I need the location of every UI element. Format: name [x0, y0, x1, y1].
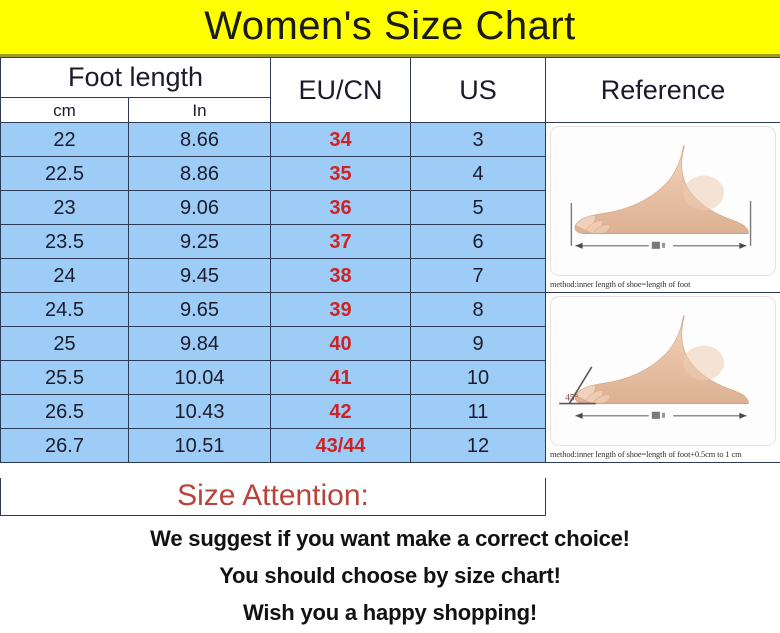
table-row: 24.59.65398 45° [1, 293, 780, 327]
foot-diagram-flat-icon [550, 126, 776, 276]
cell-cm: 24.5 [1, 293, 129, 327]
size-table-element: Foot length EU/CN US Reference cm In 228… [0, 57, 780, 463]
column-header-eu-cn: EU/CN [271, 58, 411, 123]
size-attention-banner: Size Attention: [0, 478, 546, 516]
cell-eu-cn: 39 [271, 293, 411, 327]
cell-eu-cn: 43/44 [271, 429, 411, 463]
reference-image-bottom: 45° method:inner length of shoe=length o… [546, 293, 780, 463]
size-attention-heading: Size Attention: [177, 481, 369, 511]
cell-cm: 26.5 [1, 395, 129, 429]
cell-eu-cn: 38 [271, 259, 411, 293]
cell-us: 9 [411, 327, 546, 361]
cell-us: 7 [411, 259, 546, 293]
page-title-banner: Women's Size Chart [0, 0, 780, 57]
table-row: 228.66343 [1, 123, 780, 157]
cell-cm: 23.5 [1, 225, 129, 259]
table-header: Foot length EU/CN US Reference cm In [1, 58, 780, 123]
cell-cm: 22 [1, 123, 129, 157]
cell-eu-cn: 37 [271, 225, 411, 259]
cell-in: 10.04 [129, 361, 271, 395]
cell-cm: 25.5 [1, 361, 129, 395]
cell-in: 9.65 [129, 293, 271, 327]
cell-cm: 23 [1, 191, 129, 225]
foot-diagram-angled-icon: 45° [550, 296, 776, 446]
reference-caption-top: method:inner length of shoe=length of fo… [546, 277, 780, 292]
cell-in: 8.86 [129, 157, 271, 191]
table-header-row-primary: Foot length EU/CN US Reference [1, 58, 780, 98]
cell-us: 12 [411, 429, 546, 463]
svg-text:45°: 45° [565, 393, 578, 403]
cell-us: 10 [411, 361, 546, 395]
column-header-foot-length: Foot length [1, 58, 271, 98]
cell-eu-cn: 40 [271, 327, 411, 361]
cell-us: 5 [411, 191, 546, 225]
footer-message-block: We suggest if you want make a correct ch… [0, 520, 780, 633]
cell-in: 9.45 [129, 259, 271, 293]
cell-us: 11 [411, 395, 546, 429]
reference-caption-bottom: method:inner length of shoe=length of fo… [546, 447, 780, 462]
column-header-reference: Reference [546, 58, 780, 123]
cell-cm: 22.5 [1, 157, 129, 191]
cell-eu-cn: 42 [271, 395, 411, 429]
size-chart-table: Foot length EU/CN US Reference cm In 228… [0, 57, 780, 463]
cell-in: 8.66 [129, 123, 271, 157]
cell-us: 6 [411, 225, 546, 259]
cell-cm: 26.7 [1, 429, 129, 463]
footer-line-2: You should choose by size chart! [219, 565, 561, 587]
column-header-in: In [129, 98, 271, 123]
column-header-cm: cm [1, 98, 129, 123]
cell-cm: 25 [1, 327, 129, 361]
cell-us: 3 [411, 123, 546, 157]
cell-in: 10.51 [129, 429, 271, 463]
cell-eu-cn: 34 [271, 123, 411, 157]
reference-image-top: method:inner length of shoe=length of fo… [546, 123, 780, 293]
column-header-us: US [411, 58, 546, 123]
page-title: Women's Size Chart [204, 6, 576, 46]
cell-cm: 24 [1, 259, 129, 293]
cell-us: 8 [411, 293, 546, 327]
cell-in: 10.43 [129, 395, 271, 429]
cell-in: 9.84 [129, 327, 271, 361]
footer-line-1: We suggest if you want make a correct ch… [150, 528, 630, 550]
cell-eu-cn: 35 [271, 157, 411, 191]
cell-eu-cn: 36 [271, 191, 411, 225]
cell-in: 9.06 [129, 191, 271, 225]
cell-eu-cn: 41 [271, 361, 411, 395]
table-body: 228.66343 [1, 123, 780, 463]
footer-line-3: Wish you a happy shopping! [243, 602, 537, 624]
cell-us: 4 [411, 157, 546, 191]
cell-in: 9.25 [129, 225, 271, 259]
